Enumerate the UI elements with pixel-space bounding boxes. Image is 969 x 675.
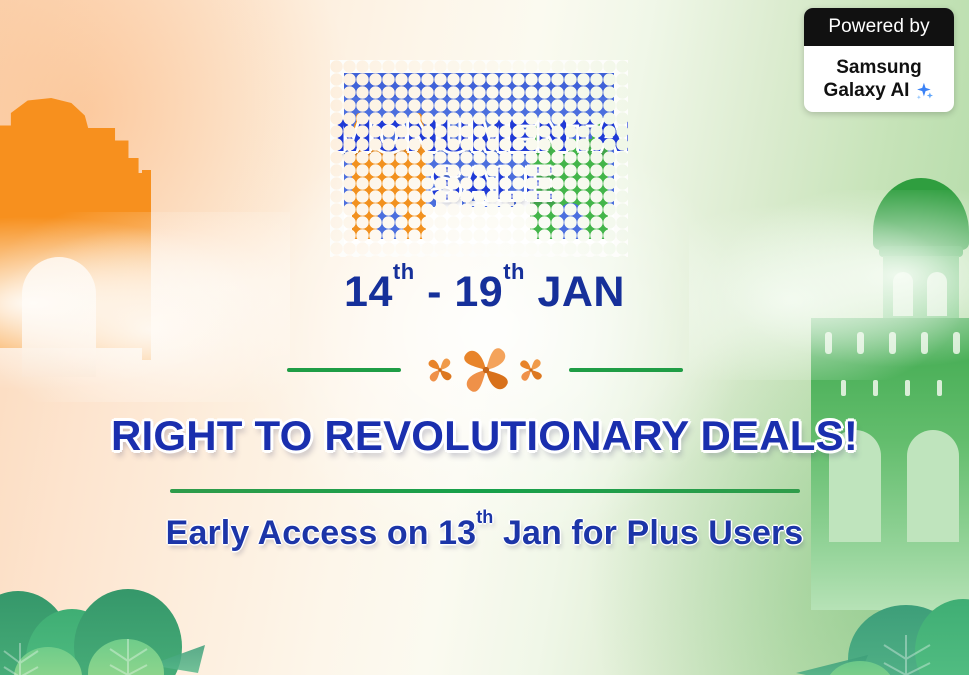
pinwheel-icon-small-right [515,354,547,386]
early-access-subtitle: Early Access on 13th Jan for Plus Users [0,514,969,553]
badge-brand-block: Samsung Galaxy AI [804,46,954,112]
stamp-artwork: MONUMENTAL SALE [344,73,614,244]
subtitle-suffix: Jan for Plus Users [493,514,803,552]
date-start-suffix: th [393,259,415,284]
badge-brand-samsung: Samsung [836,57,922,79]
powered-by-samsung-galaxy-ai-badge[interactable]: Powered by Samsung Galaxy AI [804,8,954,112]
subtitle-day-suffix: th [476,507,493,527]
badge-powered-by-label: Powered by [828,16,929,38]
pinwheel-group [423,343,547,397]
date-start-day: 14 [344,268,393,316]
subtitle-day: 13 [438,514,476,552]
stamp-title-monumental: MONUMENTAL [319,113,667,158]
pinwheel-icon-large-center [459,343,513,397]
date-month: JAN [537,268,625,316]
date-end-day: 19 [454,268,503,316]
pinwheel-divider [0,346,969,394]
date-separator: - [427,268,442,316]
monumental-sale-stamp: MONUMENTAL SALE [330,60,628,257]
promo-banner: Powered by Samsung Galaxy AI [0,0,969,675]
page-title: RIGHT TO REVOLUTIONARY DEALS! [0,412,969,460]
badge-brand-galaxy-ai-row: Galaxy AI [824,80,935,102]
green-divider-rule [170,489,800,493]
divider-line-right [569,368,683,372]
sale-date-range: 14th - 19th JAN [0,268,969,317]
pinwheel-icon-small-left [423,353,457,387]
subtitle-prefix: Early Access on [166,514,439,552]
stamp-title-sale: SALE [319,161,667,206]
date-end-suffix: th [503,259,525,284]
badge-brand-galaxy-ai: Galaxy AI [824,80,910,102]
sparkle-icon [912,80,934,102]
badge-powered-by-bar: Powered by [804,8,954,46]
divider-line-left [287,368,401,372]
